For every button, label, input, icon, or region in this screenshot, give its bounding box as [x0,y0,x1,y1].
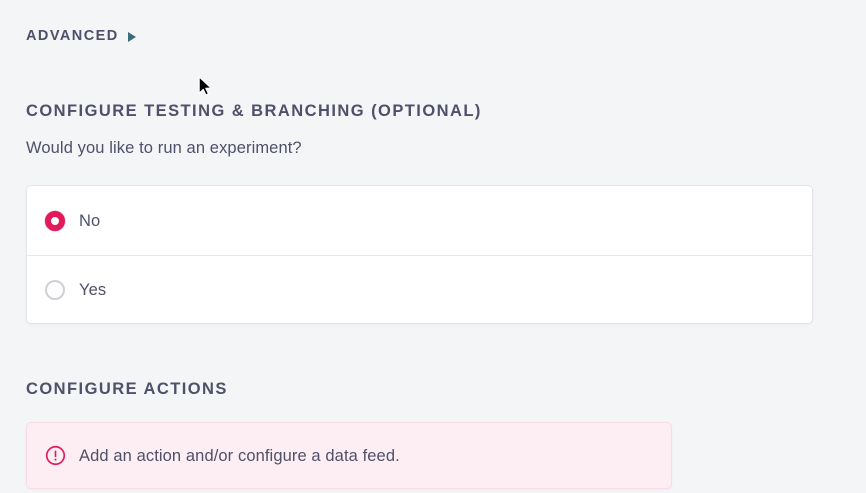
radio-option-no-label: No [79,211,100,231]
radio-button-no[interactable] [45,211,65,231]
radio-option-yes-label: Yes [79,280,106,300]
page-root: ADVANCED CONFIGURE TESTING & BRANCHING (… [0,0,866,493]
experiment-question-label: Would you like to run an experiment? [26,137,302,159]
section-heading-testing-branching: CONFIGURE TESTING & BRANCHING (OPTIONAL) [26,100,482,122]
radio-button-yes[interactable] [45,280,65,300]
section-heading-configure-actions: CONFIGURE ACTIONS [26,378,228,400]
advanced-toggle-label: ADVANCED [26,26,119,46]
exclamation-circle-icon [45,445,66,466]
radio-option-yes[interactable]: Yes [27,255,812,323]
mouse-pointer-icon [196,74,214,98]
experiment-radio-group: No Yes [26,185,813,324]
actions-alert-banner: Add an action and/or configure a data fe… [26,422,672,489]
caret-right-icon [128,32,136,42]
radio-option-no[interactable]: No [27,186,812,255]
advanced-toggle[interactable]: ADVANCED [26,26,136,46]
actions-alert-message: Add an action and/or configure a data fe… [79,446,400,466]
